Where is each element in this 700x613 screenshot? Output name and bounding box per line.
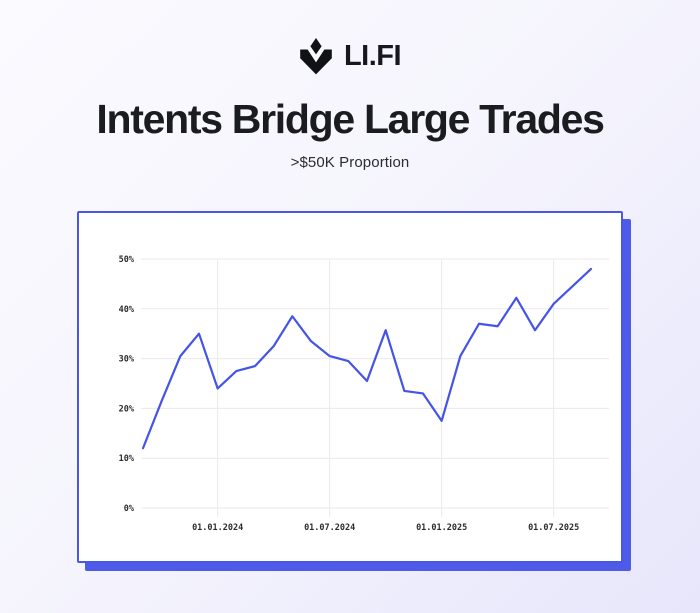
y-axis-tick-label: 10% xyxy=(119,454,135,464)
page-header: LI.FI Intents Bridge Large Trades >$50K … xyxy=(0,0,700,171)
x-axis-tick-label: 01.01.2025 xyxy=(416,523,467,533)
chart-gridlines xyxy=(141,259,609,508)
x-axis-tick-label: 01.07.2024 xyxy=(304,523,355,533)
y-axis-tick-label: 20% xyxy=(119,404,135,414)
x-axis-tick-label: 01.01.2024 xyxy=(192,523,243,533)
line-chart: 0%10%20%30%40%50% 01.01.202401.07.202401… xyxy=(79,213,623,563)
y-axis-tick-label: 50% xyxy=(119,255,135,265)
lifi-chevron-logo-icon xyxy=(299,37,333,75)
y-axis-tick-label: 40% xyxy=(119,305,135,315)
y-axis-tick-label: 0% xyxy=(124,504,135,514)
chart-card: 0%10%20%30%40%50% 01.01.202401.07.202401… xyxy=(77,211,623,563)
chart-ytick-labels: 0%10%20%30%40%50% xyxy=(119,255,135,514)
chart-xtick-labels: 01.01.202401.07.202401.01.202501.07.2025 xyxy=(192,523,579,533)
chart-xgridlines xyxy=(218,259,554,517)
brand-name: LI.FI xyxy=(344,42,401,71)
page-subtitle: >$50K Proportion xyxy=(0,154,700,171)
brand-lockup: LI.FI xyxy=(0,36,700,76)
chart-card-body: 0%10%20%30%40%50% 01.01.202401.07.202401… xyxy=(77,211,623,563)
y-axis-tick-label: 30% xyxy=(119,355,135,365)
page-title: Intents Bridge Large Trades xyxy=(0,98,700,141)
x-axis-tick-label: 01.07.2025 xyxy=(528,523,579,533)
